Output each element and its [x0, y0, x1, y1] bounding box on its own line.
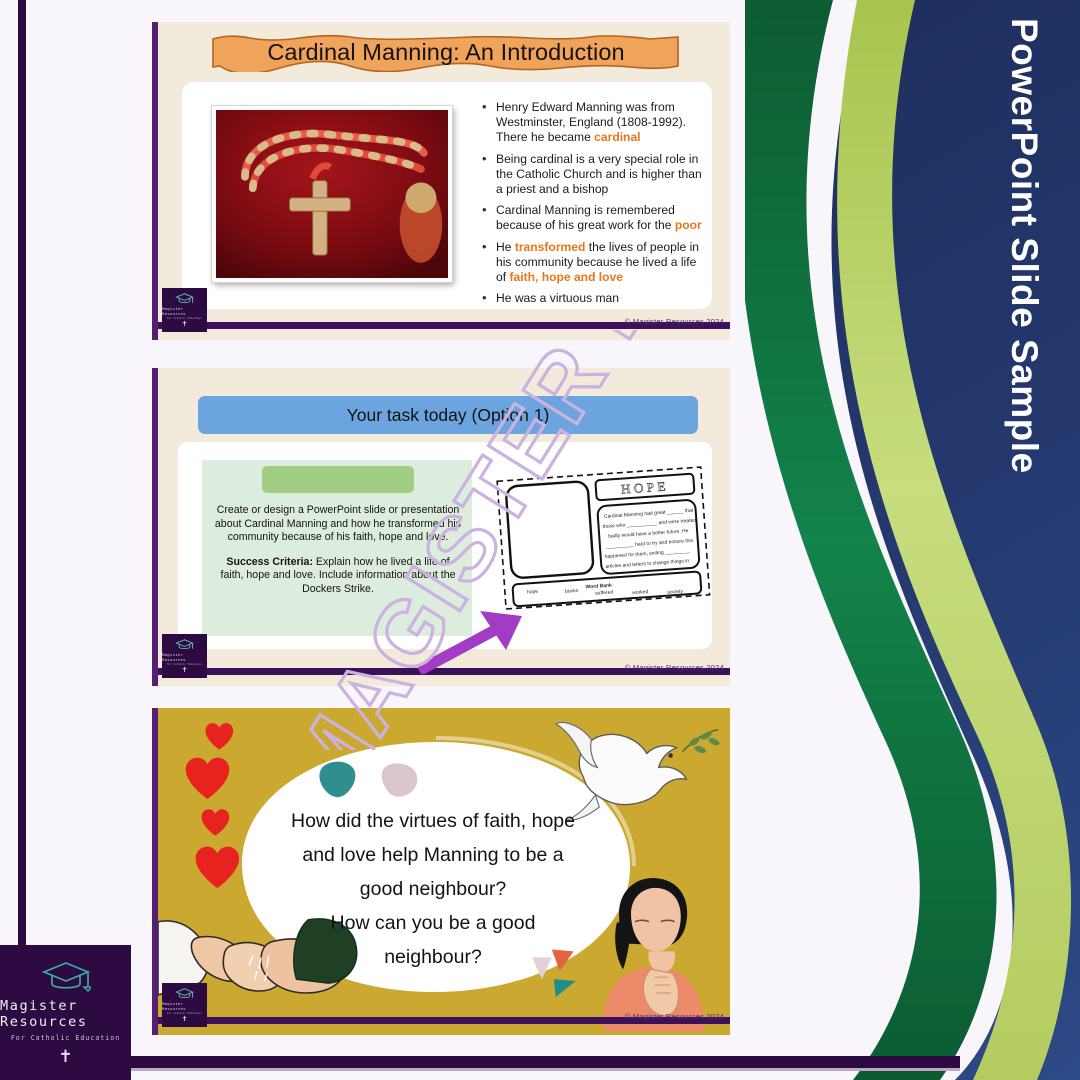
- badge-brand-name: Magister Resources: [162, 1001, 207, 1011]
- slide-1[interactable]: Cardinal Manning: An Introduction: [152, 22, 730, 340]
- task-text: Create or design a PowerPoint slide or p…: [214, 504, 462, 597]
- question-line: and love help Manning to be a: [254, 838, 612, 872]
- graduation-cap-icon: [175, 638, 194, 651]
- slide-1-copyright: © Magister Resources 2024: [625, 317, 724, 326]
- question-line: How did the virtues of faith, hope: [254, 804, 612, 838]
- graduation-cap-icon: [175, 292, 194, 305]
- slide-1-logo-badge: Magister Resources For Catholic Educatio…: [162, 288, 207, 332]
- question-line: How can you be a good: [254, 906, 612, 940]
- brand-tagline: For Catholic Education: [11, 1034, 120, 1042]
- cross-icon: ✝: [58, 1048, 72, 1065]
- svg-text:hope: hope: [527, 589, 539, 596]
- task-paragraph: Create or design a PowerPoint slide or p…: [214, 504, 462, 545]
- cardinal-cross-photo: [212, 106, 452, 282]
- slide-3-copyright: © Magister Resources 2024: [625, 1012, 724, 1021]
- cross-icon: ✝: [182, 1016, 188, 1023]
- cross-icon: ✝: [182, 667, 188, 674]
- confetti-triangle-icon: [554, 979, 576, 997]
- poster-canvas: PowerPoint Slide Sample Cardinal Manning…: [0, 0, 1080, 1080]
- question-line: good neighbour?: [254, 872, 612, 906]
- brand-logo-card: Magister Resources For Catholic Educatio…: [0, 945, 131, 1080]
- svg-text:suffered: suffered: [595, 589, 614, 596]
- svg-text:society: society: [667, 589, 683, 596]
- vertical-banner: PowerPoint Slide Sample: [968, 0, 1080, 1080]
- slide-1-title-banner: Cardinal Manning: An Introduction: [210, 32, 682, 72]
- badge-brand-name: Magister Resources: [162, 652, 207, 662]
- slide-1-content-card: Henry Edward Manning was from Westminste…: [182, 82, 712, 309]
- slide-1-bullet-list: Henry Edward Manning was from Westminste…: [480, 100, 708, 312]
- slide-3-logo-badge: Magister Resources For Catholic Educatio…: [162, 983, 207, 1027]
- pointer-arrow-icon: [418, 604, 536, 674]
- svg-text:worked: worked: [632, 589, 649, 596]
- task-heading-bar: [262, 466, 414, 493]
- success-criteria: Success Criteria: Explain how he lived a…: [214, 556, 462, 597]
- vertical-banner-label: PowerPoint Slide Sample: [1003, 18, 1045, 474]
- bottom-accent-bar: [26, 1056, 960, 1068]
- graduation-cap-icon: [41, 960, 91, 994]
- list-item: Henry Edward Manning was from Westminste…: [480, 100, 708, 146]
- brand-name: Magister Resources: [0, 998, 131, 1030]
- svg-text:books: books: [565, 588, 579, 595]
- list-item: He transformed the lives of people in hi…: [480, 240, 708, 286]
- praying-girl-icon: [603, 878, 704, 1031]
- slide-1-title: Cardinal Manning: An Introduction: [210, 32, 682, 72]
- badge-brand-name: Magister Resources: [162, 306, 207, 316]
- slide-2-copyright: © Magister Resources 2024: [625, 663, 724, 672]
- slide-2-logo-badge: Magister Resources For Catholic Educatio…: [162, 634, 207, 678]
- confetti-blob-icon: [319, 762, 355, 798]
- slide-2-title: Your task today (Option 1): [198, 396, 698, 434]
- graduation-cap-icon: [175, 987, 194, 1000]
- cross-icon: ✝: [182, 321, 188, 328]
- slide-3[interactable]: How did the virtues of faith, hope and l…: [152, 708, 730, 1035]
- slide-3-question-text: How did the virtues of faith, hope and l…: [254, 804, 612, 974]
- bottom-accent-bar-light: [26, 1068, 960, 1071]
- question-line: neighbour?: [254, 940, 612, 974]
- confetti-blob-icon: [382, 763, 418, 796]
- list-item: Being cardinal is a very special role in…: [480, 152, 708, 198]
- left-accent-rule: [18, 0, 26, 1035]
- badge-brand-tagline: For Catholic Education: [167, 1012, 202, 1015]
- badge-brand-tagline: For Catholic Education: [167, 663, 202, 666]
- list-item: Cardinal Manning is remembered because o…: [480, 203, 708, 233]
- list-item: He was a virtuous man: [480, 291, 708, 306]
- badge-brand-tagline: For Catholic Education: [167, 317, 202, 320]
